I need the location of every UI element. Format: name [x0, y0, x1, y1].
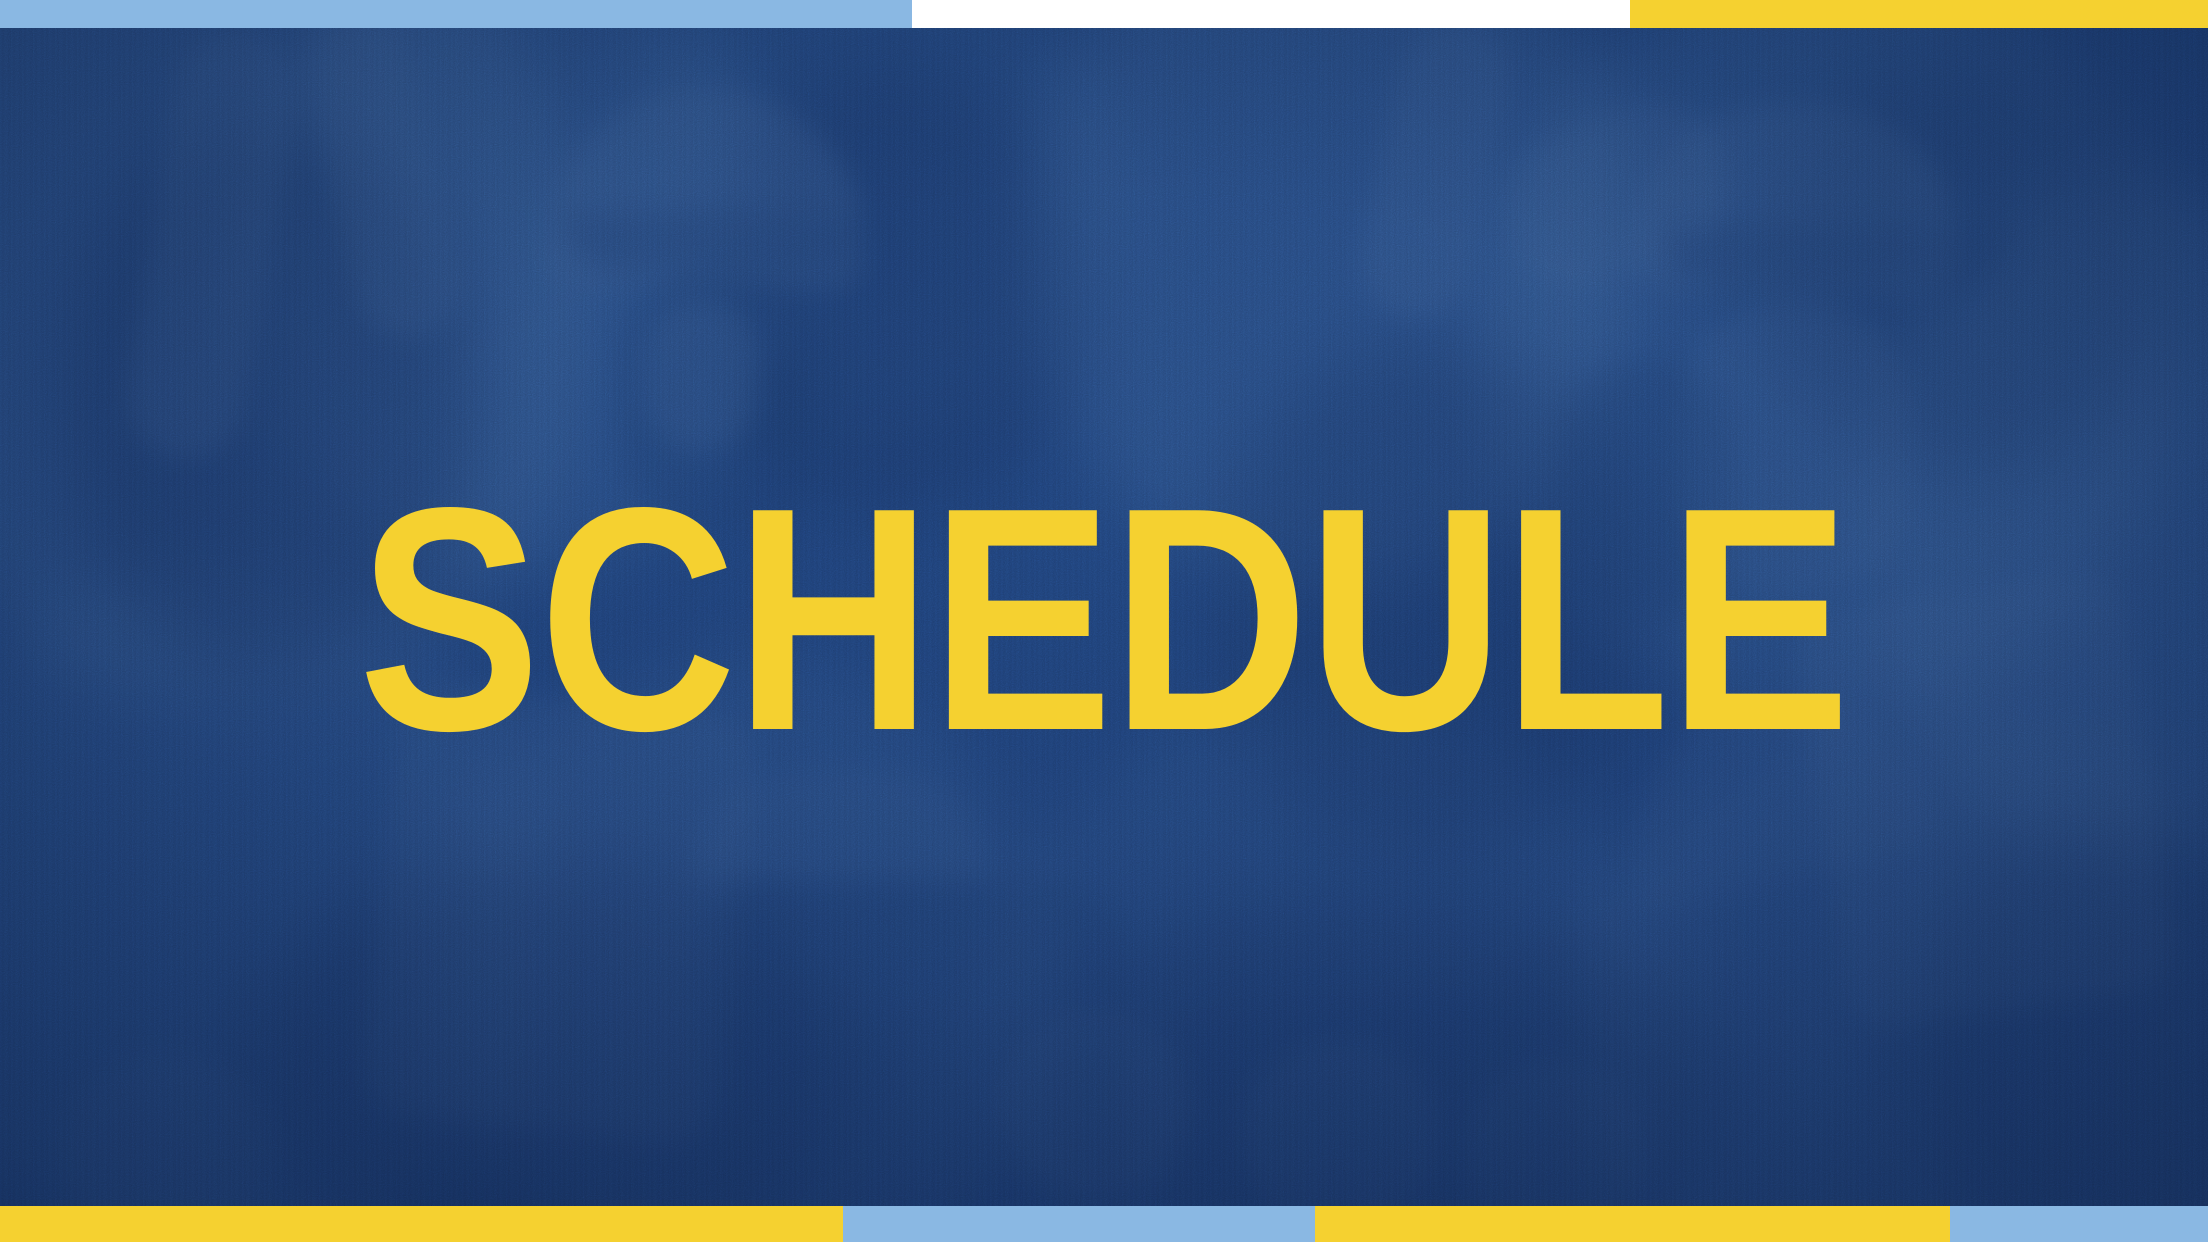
bottom-bar-segment-light-blue-2	[1950, 1206, 2208, 1242]
bottom-accent-bar	[0, 1206, 2208, 1242]
bottom-bar-segment-yellow-1	[0, 1206, 843, 1242]
headline-container: SCHEDULE	[0, 470, 2208, 770]
top-bar-segment-yellow	[1630, 0, 2208, 28]
bottom-bar-segment-yellow-2	[1315, 1206, 1950, 1242]
top-bar-segment-light-blue	[0, 0, 912, 28]
bottom-bar-segment-light-blue-1	[843, 1206, 1315, 1242]
schedule-hero-banner: SCHEDULE	[0, 0, 2208, 1242]
page-title: SCHEDULE	[359, 496, 1850, 744]
top-accent-bar	[0, 0, 2208, 28]
top-bar-segment-white	[912, 0, 1630, 28]
